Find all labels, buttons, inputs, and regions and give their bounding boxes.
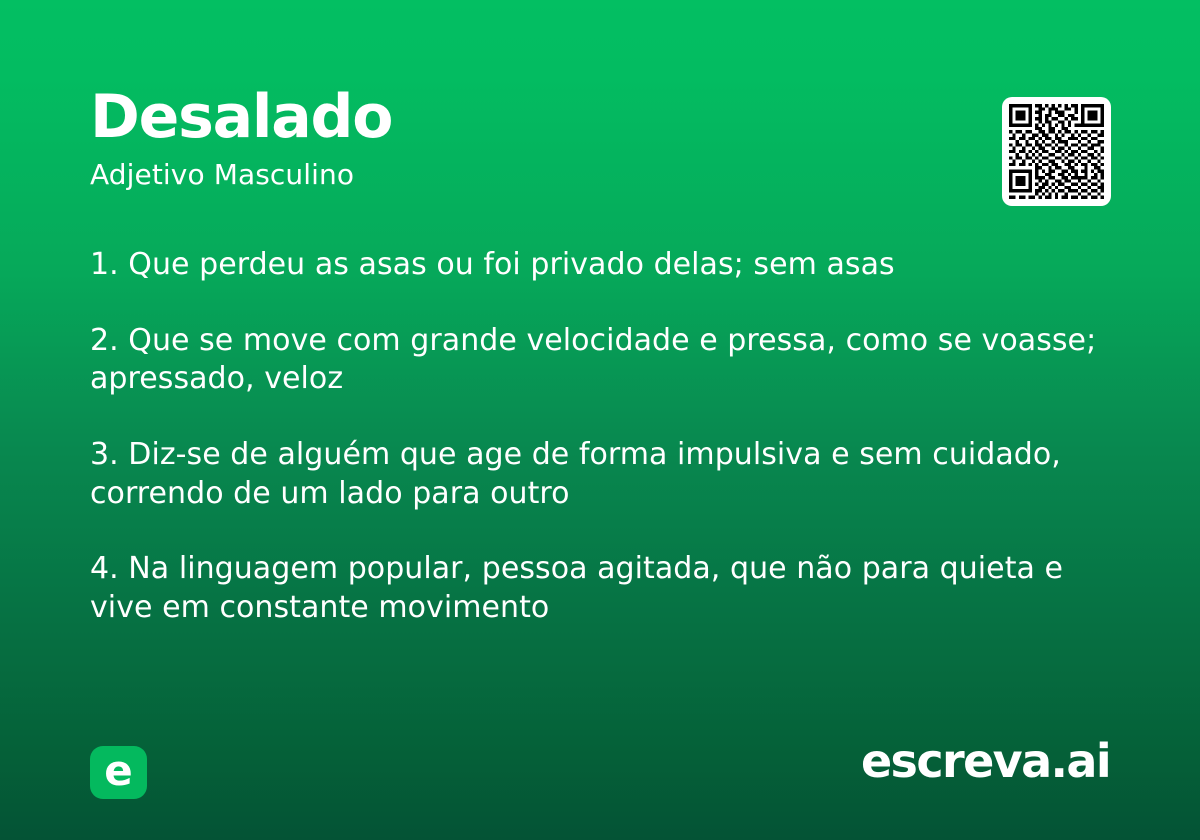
card-footer: e escreva.ai bbox=[0, 710, 1200, 840]
dictionary-card: Desalado Adjetivo Masculino 1. Que perde… bbox=[0, 0, 1200, 840]
definition-item: 4. Na linguagem popular, pessoa agitada,… bbox=[90, 550, 1110, 627]
qr-code-icon bbox=[1009, 104, 1104, 199]
definition-item: 2. Que se move com grande velocidade e p… bbox=[90, 322, 1110, 399]
definition-item: 3. Diz-se de alguém que age de forma imp… bbox=[90, 436, 1110, 513]
brand-logo-icon: e bbox=[90, 746, 147, 799]
page-title: Desalado bbox=[90, 86, 970, 149]
definition-item: 1. Que perdeu as asas ou foi privado del… bbox=[90, 246, 1110, 285]
word-class-label: Adjetivo Masculino bbox=[90, 158, 970, 192]
definition-list: 1. Que perdeu as asas ou foi privado del… bbox=[90, 246, 1110, 628]
qr-code-panel[interactable] bbox=[1002, 97, 1111, 206]
brand-wordmark: escreva.ai bbox=[861, 738, 1110, 784]
card-header: Desalado Adjetivo Masculino bbox=[90, 86, 970, 192]
brand-logo-letter: e bbox=[104, 750, 133, 792]
